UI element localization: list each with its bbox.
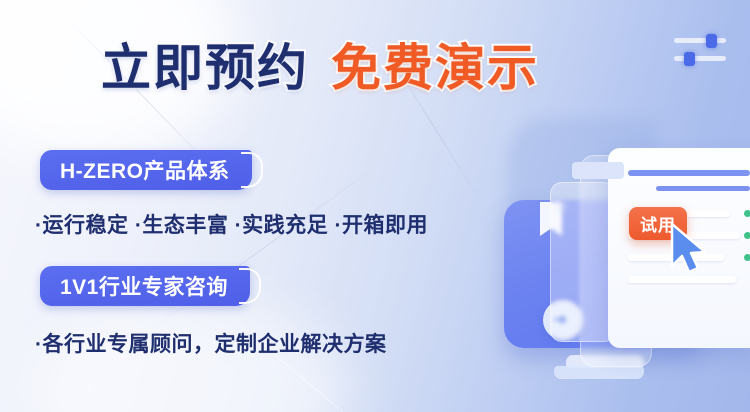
card-title-bar: [628, 170, 750, 176]
status-dot: [744, 232, 750, 239]
status-dot: [744, 254, 750, 261]
card-subtitle-bar: [656, 186, 750, 191]
headline-primary: 立即预约: [101, 40, 309, 96]
cursor-pointer-icon: [668, 222, 716, 278]
promo-banner: 立即预约免费演示 H-ZERO产品体系 ·运行稳定 ·生态丰富 ·实践充足 ·开…: [0, 0, 750, 412]
feature-badge-label: H-ZERO产品体系: [60, 155, 230, 185]
status-dot: [744, 210, 750, 217]
feature-badge-label: 1V1行业专家咨询: [60, 271, 228, 301]
feature-description-expert-consult: ·各行业专属顾问，定制企业解决方案: [35, 328, 387, 358]
illustration: ➜ 试用: [468, 0, 750, 412]
feature-badge-expert-consult[interactable]: 1V1行业专家咨询: [40, 266, 250, 306]
pedestal-bottom: [554, 366, 644, 379]
ghost-card-front: [550, 182, 616, 342]
card-chip: [572, 162, 624, 179]
feature-description-product-system: ·运行稳定 ·生态丰富 ·实践充足 ·开箱即用: [35, 209, 428, 239]
feature-badge-product-system[interactable]: H-ZERO产品体系: [40, 150, 252, 190]
